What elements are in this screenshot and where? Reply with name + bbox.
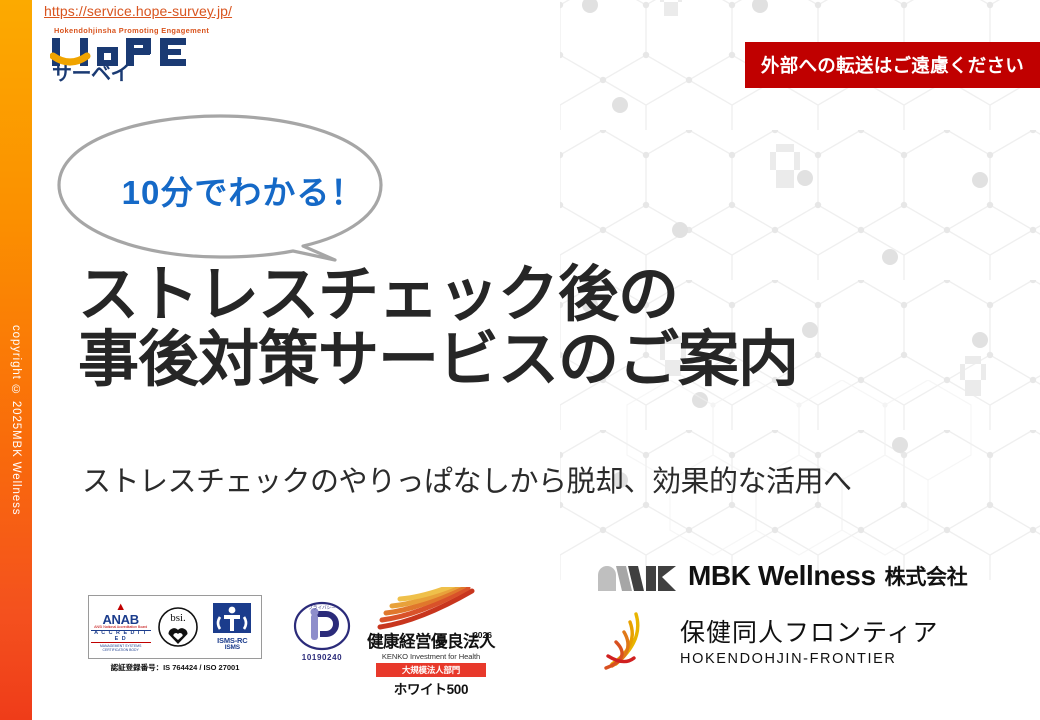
bsi-mark: bsi.	[154, 604, 202, 650]
anab-flame-icon: ▲	[91, 602, 151, 613]
privacy-mark-badge: プライバシー 10190240	[284, 600, 360, 662]
mbk-wellness-logo: MBK Wellness 株式会社	[598, 560, 967, 592]
svg-text:bsi.: bsi.	[170, 612, 186, 624]
forwarding-notice-banner: 外部への転送はご遠慮ください	[745, 42, 1040, 88]
kenko-white500-label: ホワイト500	[366, 678, 496, 698]
hokendohjin-frontier-logo: 保健同人フロンティア HOKENDOHJIN-FRONTIER	[600, 612, 939, 674]
kenko-en-label: KENKO Investment for Health	[366, 652, 496, 661]
title-line-2: 事後対策サービスのご案内	[78, 327, 978, 392]
hope-survey-logo: Hokendohjinsha Promoting Engagement	[50, 26, 230, 94]
isms-registration-number: 認証登録番号：IS 764424 / ISO 27001	[88, 662, 262, 673]
hokendohjin-text-block: 保健同人フロンティア HOKENDOHJIN-FRONTIER	[680, 619, 939, 667]
forwarding-notice-label: 外部への転送はご遠慮ください	[761, 52, 1024, 78]
hokendohjin-en-label: HOKENDOHJIN-FRONTIER	[680, 651, 939, 667]
mbk-logo-mark	[598, 561, 676, 591]
hokendohjin-logo-mark	[600, 612, 660, 674]
anab-body-label: MANAGEMENT SYSTEMS CERTIFICATION BODY	[91, 644, 151, 653]
kenko-category-band: 大規模法人部門	[376, 663, 486, 677]
page-subtitle: ストレスチェックのやりっぱなしから脱却、効果的な活用へ	[82, 458, 982, 500]
isms-rc-mark: ISMS-RC ISMS	[205, 603, 259, 652]
isms-certification-badge: ▲ ANAB ANSI National Accreditation Board…	[88, 595, 262, 659]
service-url-link[interactable]: https://service.hope-survey.jp/	[44, 3, 232, 19]
anab-subtitle: ANSI National Accreditation Board	[91, 626, 151, 630]
speech-bubble: 10分でわかる！	[35, 110, 405, 270]
copyright-label: copyright © 2025MBK Wellness	[10, 325, 22, 515]
hope-logo-tagline: Hokendohjinsha Promoting Engagement	[54, 26, 230, 35]
kenko-investment-badge: 2026 健康経営優良法人 KENKO Investment for Healt…	[366, 587, 496, 698]
anab-accredited-label: A C C R E D I T E D	[91, 630, 151, 643]
anab-name-label: ANAB	[91, 613, 151, 626]
hokendohjin-jp-label: 保健同人フロンティア	[680, 619, 939, 648]
speech-bubble-text: 10分でわかる！	[93, 166, 393, 214]
mbk-name-label: MBK Wellness	[688, 560, 876, 592]
isms-rc-label-2: ISMS	[205, 645, 259, 652]
copyright-text: copyright © 2025MBK Wellness	[0, 0, 32, 720]
hexagon-background-pattern-lower	[620, 380, 1040, 640]
privacy-mark-number: 10190240	[284, 653, 360, 662]
page-title: ストレスチェック後の 事後対策サービスのご案内	[78, 262, 978, 391]
hope-wordmark	[50, 36, 230, 66]
kenko-wing-icon	[372, 587, 490, 633]
kenko-year-label: 2026	[473, 630, 492, 640]
anab-mark: ▲ ANAB ANSI National Accreditation Board…	[91, 602, 151, 653]
mbk-suffix-label: 株式会社	[885, 561, 968, 591]
title-line-1: ストレスチェック後の	[78, 262, 978, 327]
slide-canvas: copyright © 2025MBK Wellness https://ser…	[0, 0, 1040, 720]
